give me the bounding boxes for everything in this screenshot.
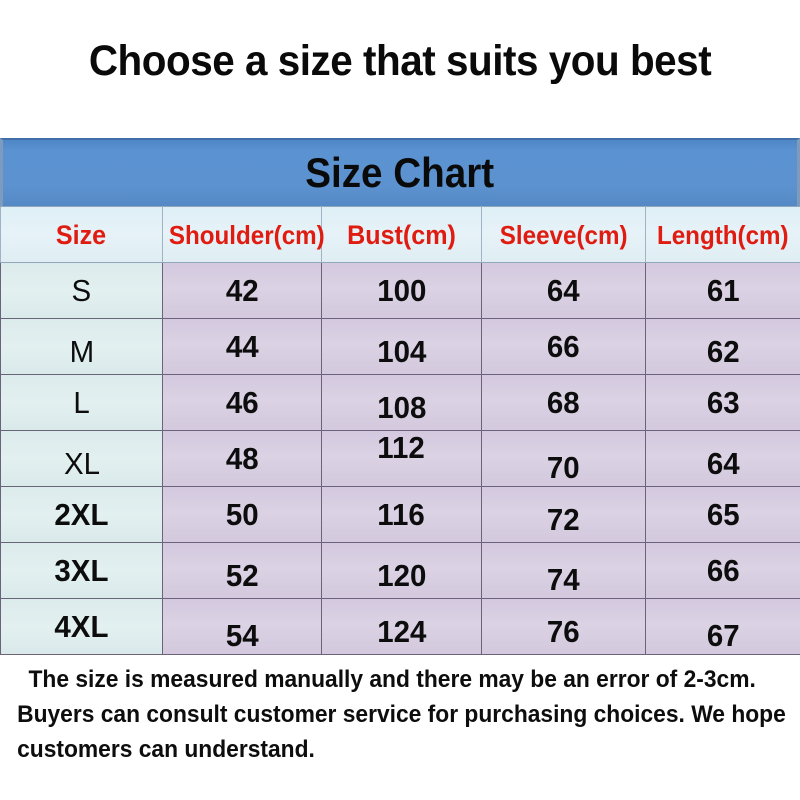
- cell-length: 66: [646, 543, 800, 599]
- cell-sleeve-value: 70: [547, 452, 580, 484]
- cell-length: 67: [646, 599, 800, 655]
- size-chart-page: Choose a size that suits you best Size C…: [0, 0, 800, 800]
- cell-shoulder-value: 44: [226, 331, 259, 363]
- size-chart-banner-title: Size Chart: [306, 151, 495, 195]
- cell-bust-value: 120: [377, 560, 426, 592]
- cell-bust: 124: [322, 599, 482, 655]
- size-chart-banner: Size Chart: [0, 138, 800, 206]
- cell-shoulder-value: 52: [226, 560, 259, 592]
- disclaimer-line-2: Buyers can consult customer service for …: [17, 697, 747, 732]
- cell-shoulder: 50: [163, 487, 322, 543]
- cell-sleeve-value: 68: [547, 387, 580, 419]
- cell-length-value: 63: [707, 387, 740, 419]
- cell-length-value: 61: [707, 275, 740, 307]
- cell-length: 64: [646, 431, 800, 487]
- cell-size-value: L: [73, 387, 89, 419]
- cell-size: 2XL: [1, 487, 163, 543]
- table-row: 3XL 52 120 74 66: [1, 543, 800, 599]
- cell-sleeve: 68: [482, 375, 646, 431]
- cell-sleeve-value: 74: [547, 564, 580, 596]
- table-header-row: Size Shoulder(cm) Bust(cm) Sleeve(cm) Le…: [1, 207, 800, 263]
- cell-shoulder: 54: [163, 599, 322, 655]
- cell-size: M: [1, 319, 163, 375]
- cell-bust: 108: [322, 375, 482, 431]
- cell-sleeve-value: 66: [547, 331, 580, 363]
- table-row: 2XL 50 116 72 65: [1, 487, 800, 543]
- cell-sleeve-value: 64: [547, 275, 580, 307]
- cell-sleeve: 74: [482, 543, 646, 599]
- column-header-length: Length(cm): [646, 207, 800, 263]
- cell-length-value: 67: [707, 620, 740, 652]
- cell-sleeve: 64: [482, 263, 646, 319]
- cell-length-value: 66: [707, 555, 740, 587]
- cell-shoulder-value: 50: [226, 499, 259, 531]
- cell-sleeve: 72: [482, 487, 646, 543]
- cell-bust-value: 104: [377, 336, 426, 368]
- table-row: S 42 100 64 61: [1, 263, 800, 319]
- cell-size: 4XL: [1, 599, 163, 655]
- cell-size: 3XL: [1, 543, 163, 599]
- cell-bust: 116: [322, 487, 482, 543]
- cell-shoulder-value: 54: [226, 620, 259, 652]
- cell-length: 63: [646, 375, 800, 431]
- cell-shoulder: 42: [163, 263, 322, 319]
- page-title: Choose a size that suits you best: [24, 36, 776, 86]
- cell-shoulder-value: 48: [226, 443, 259, 475]
- cell-length: 65: [646, 487, 800, 543]
- cell-shoulder: 46: [163, 375, 322, 431]
- cell-shoulder: 44: [163, 319, 322, 375]
- cell-sleeve: 76: [482, 599, 646, 655]
- column-header-size: Size: [1, 207, 163, 263]
- cell-size-value: M: [69, 336, 94, 368]
- table-row: XL 48 112 70 64: [1, 431, 800, 487]
- column-header-shoulder: Shoulder(cm): [163, 207, 322, 263]
- cell-sleeve-value: 72: [547, 504, 580, 536]
- cell-length: 61: [646, 263, 800, 319]
- column-header-shoulder-label: Shoulder(cm): [169, 221, 325, 249]
- column-header-sleeve: Sleeve(cm): [482, 207, 646, 263]
- table-row: 4XL 54 124 76 67: [1, 599, 800, 655]
- disclaimer-line-1: The size is measured manually and there …: [17, 662, 747, 697]
- cell-shoulder: 52: [163, 543, 322, 599]
- table-row: L 46 108 68 63: [1, 375, 800, 431]
- cell-sleeve: 70: [482, 431, 646, 487]
- cell-bust: 104: [322, 319, 482, 375]
- cell-length: 62: [646, 319, 800, 375]
- cell-size-value: 4XL: [54, 611, 108, 643]
- size-chart-table: Size Chart Size Shoulder(cm): [0, 138, 800, 648]
- table-body: S 42 100 64 61: [1, 263, 800, 655]
- cell-size-value: 3XL: [54, 555, 108, 587]
- cell-size-value: 2XL: [54, 499, 108, 531]
- cell-bust: 100: [322, 263, 482, 319]
- measurement-disclaimer: The size is measured manually and there …: [0, 662, 760, 767]
- cell-bust-value: 100: [377, 275, 426, 307]
- cell-bust-value: 124: [377, 616, 426, 648]
- cell-size: S: [1, 263, 163, 319]
- column-header-bust-label: Bust(cm): [347, 221, 456, 249]
- cell-shoulder: 48: [163, 431, 322, 487]
- cell-size: L: [1, 375, 163, 431]
- column-header-size-label: Size: [56, 221, 106, 249]
- measurements-table: Size Shoulder(cm) Bust(cm) Sleeve(cm) Le…: [0, 206, 800, 655]
- cell-bust: 112: [322, 431, 482, 487]
- column-header-sleeve-label: Sleeve(cm): [500, 221, 628, 249]
- cell-length-value: 62: [707, 336, 740, 368]
- cell-size-value: S: [72, 275, 92, 307]
- cell-shoulder-value: 42: [226, 275, 259, 307]
- cell-sleeve-value: 76: [547, 616, 580, 648]
- table-row: M 44 104 66 62: [1, 319, 800, 375]
- cell-sleeve: 66: [482, 319, 646, 375]
- cell-length-value: 65: [707, 499, 740, 531]
- cell-length-value: 64: [707, 448, 740, 480]
- column-header-bust: Bust(cm): [322, 207, 482, 263]
- disclaimer-line-3: customers can understand.: [17, 732, 747, 767]
- cell-size: XL: [1, 431, 163, 487]
- cell-shoulder-value: 46: [226, 387, 259, 419]
- cell-size-value: XL: [63, 448, 99, 480]
- cell-bust: 120: [322, 543, 482, 599]
- cell-bust-value: 108: [377, 392, 426, 424]
- cell-bust-value: 112: [378, 432, 426, 464]
- cell-bust-value: 116: [378, 499, 426, 531]
- column-header-length-label: Length(cm): [657, 221, 789, 249]
